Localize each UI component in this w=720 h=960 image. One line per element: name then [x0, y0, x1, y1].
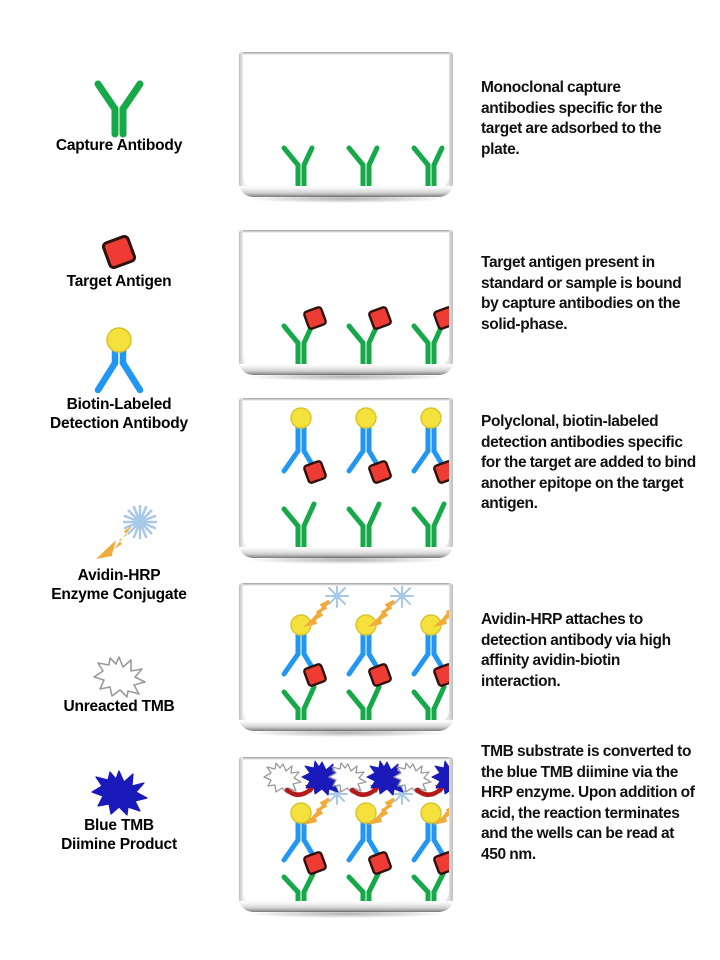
- unreacted-tmb-icon: [4, 655, 234, 697]
- target-antigen-bound: [303, 460, 449, 483]
- well-shadow: [247, 374, 445, 381]
- microplate-well-step-2: [239, 230, 453, 375]
- legend-item-target-antigen: Target Antigen: [4, 232, 234, 291]
- step-description-5: TMB substrate is converted to the blue T…: [481, 742, 697, 865]
- microplate-well-step-4: [239, 583, 453, 731]
- reaction-arrow: [287, 789, 311, 795]
- unreacted-tmb-star: [264, 763, 301, 793]
- elisa-diagram: Capture Antibody Target Antigen: [0, 0, 720, 960]
- well-shadow: [247, 911, 445, 918]
- target-antigen-bound: [303, 663, 449, 686]
- legend-label-detection-antibody-line2: Detection Antibody: [4, 414, 234, 433]
- well-interior: [243, 233, 449, 366]
- legend-label-capture-antibody: Capture Antibody: [4, 136, 234, 155]
- legend-label-blue-tmb-line2: Diimine Product: [4, 835, 234, 854]
- microplate-well-step-5: [239, 757, 453, 912]
- reaction-arrow: [352, 789, 376, 795]
- well-interior: [243, 586, 449, 722]
- well-contents-step-2: [243, 233, 449, 366]
- blue-tmb-diimine-icon: [4, 770, 234, 816]
- legend-item-unreacted-tmb: Unreacted TMB: [4, 655, 234, 716]
- legend-item-blue-tmb: Blue TMB Diimine Product: [4, 770, 234, 854]
- legend-label-avidin-hrp-line1: Avidin-HRP: [4, 566, 234, 585]
- legend-item-avidin-hrp: Avidin-HRP Enzyme Conjugate: [4, 500, 234, 604]
- biotin-tag: [291, 408, 441, 428]
- biotin-labeled-detection-antibody-icon: [4, 330, 234, 395]
- well-contents-step-4: [243, 586, 449, 722]
- legend-label-target-antigen: Target Antigen: [4, 272, 234, 291]
- well-shadow: [247, 730, 445, 737]
- step-description-2: Target antigen present in standard or sa…: [481, 253, 697, 335]
- target-antigen-bound: [303, 306, 449, 329]
- well-shadow: [247, 196, 445, 203]
- legend-label-blue-tmb-line1: Blue TMB: [4, 816, 234, 835]
- step-description-4: Avidin-HRP attaches to detection antibod…: [481, 610, 697, 692]
- microplate-well-step-1: [239, 52, 453, 197]
- microplate-well-step-3: [239, 398, 453, 558]
- target-antigen-icon: [4, 232, 234, 272]
- well-interior: [243, 760, 449, 903]
- step-description-1: Monoclonal capture antibodies specific f…: [481, 78, 697, 160]
- target-antigen-bound: [303, 851, 449, 874]
- legend-item-detection-antibody: Biotin-Labeled Detection Antibody: [4, 330, 234, 433]
- step-description-3: Polyclonal, biotin-labeled detection ant…: [481, 412, 697, 515]
- legend-item-capture-antibody: Capture Antibody: [4, 78, 234, 155]
- legend-label-unreacted-tmb: Unreacted TMB: [4, 697, 234, 716]
- legend-label-detection-antibody-line1: Biotin-Labeled: [4, 395, 234, 414]
- well-interior: [243, 401, 449, 549]
- well-contents-step-1: [243, 55, 449, 188]
- avidin-hrp-conjugate-icon: [4, 500, 234, 566]
- well-shadow: [247, 557, 445, 564]
- reaction-arrow: [417, 789, 441, 795]
- capture-antibody-icon: [4, 78, 234, 136]
- legend-label-avidin-hrp-line2: Enzyme Conjugate: [4, 585, 234, 604]
- well-contents-step-5: [243, 760, 449, 903]
- well-contents-step-3: [243, 401, 449, 549]
- tmb-conversion: [264, 761, 449, 795]
- well-interior: [243, 55, 449, 188]
